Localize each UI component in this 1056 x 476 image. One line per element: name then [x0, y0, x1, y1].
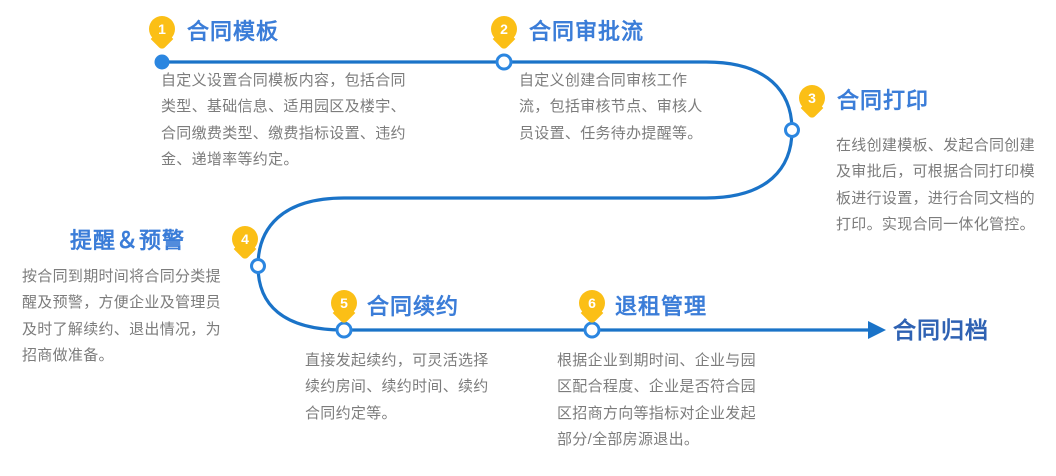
node-marker-4 — [252, 260, 265, 273]
step-desc-6: 根据企业到期时间、企业与园区配合程度、企业是否符合园区招商方向等指标对企业发起部… — [557, 348, 769, 453]
step-title-3: 合同打印 — [837, 90, 929, 112]
step-desc-3: 在线创建模板、发起合同创建及审批后，可根据合同打印模板进行设置，进行合同文档的打… — [836, 133, 1048, 238]
step-desc-5: 直接发起续约，可灵活选择续约房间、续约时间、续约合同约定等。 — [305, 348, 492, 427]
step-title-1: 合同模板 — [187, 21, 279, 43]
step-title-5: 合同续约 — [367, 296, 459, 318]
step-pin-number-6: 6 — [579, 290, 605, 316]
step-pin-3[interactable]: 3 — [799, 85, 825, 119]
node-marker-3 — [786, 124, 799, 137]
node-marker-6 — [585, 323, 599, 337]
step-pin-5[interactable]: 5 — [331, 290, 357, 324]
step-desc-2: 自定义创建合同审核工作流，包括审核节点、审核人员设置、任务待办提醒等。 — [519, 68, 714, 147]
step-desc-4: 按合同到期时间将合同分类提醒及预警，方便企业及管理员及时了解续约、退出情况，为招… — [22, 264, 230, 369]
step-pin-2[interactable]: 2 — [491, 16, 517, 50]
step-pin-number-3: 3 — [799, 85, 825, 111]
step-title-2: 合同审批流 — [529, 21, 644, 43]
step-title-6: 退租管理 — [615, 296, 707, 318]
step-pin-4[interactable]: 4 — [232, 226, 258, 260]
node-marker-5 — [337, 323, 351, 337]
step-pin-6[interactable]: 6 — [579, 290, 605, 324]
step-pin-number-1: 1 — [149, 16, 175, 42]
flow-diagram: 1 合同模板 自定义设置合同模板内容，包括合同类型、基础信息、适用园区及楼宇、合… — [0, 0, 1056, 476]
step-pin-1[interactable]: 1 — [149, 16, 175, 50]
end-label: 合同归档 — [893, 319, 989, 342]
step-title-4: 提醒＆预警 — [70, 230, 185, 252]
step-pin-number-2: 2 — [491, 16, 517, 42]
arrow-right-icon — [868, 321, 886, 339]
step-pin-number-4: 4 — [232, 226, 258, 252]
node-marker-2 — [497, 55, 511, 69]
step-pin-number-5: 5 — [331, 290, 357, 316]
step-desc-1: 自定义设置合同模板内容，包括合同类型、基础信息、适用园区及楼宇、合同缴费类型、缴… — [161, 68, 409, 173]
